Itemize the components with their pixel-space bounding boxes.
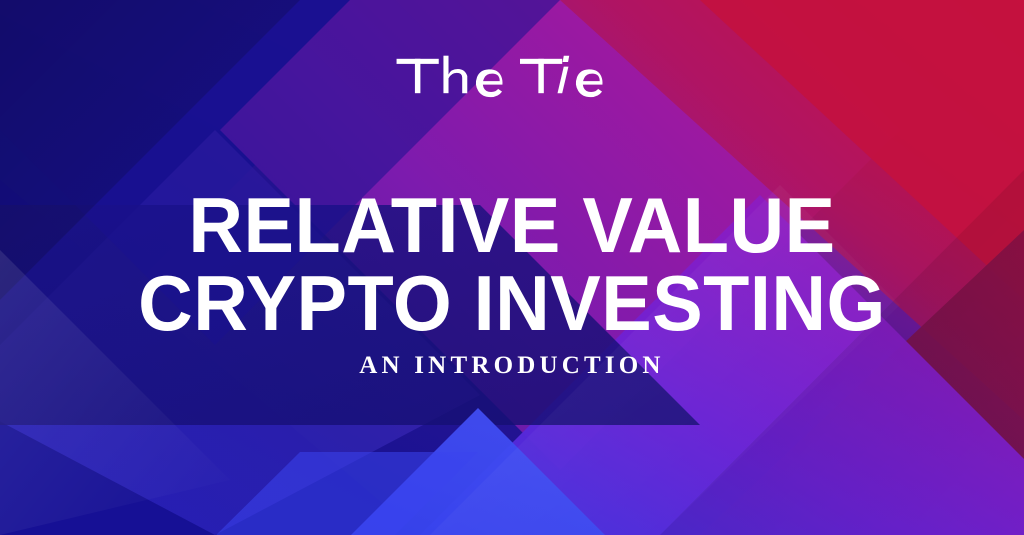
the-tie-wordmark-icon	[395, 51, 629, 101]
brand-logo[interactable]	[0, 48, 1024, 104]
headline-line-1: RELATIVE VALUE	[15, 186, 1008, 264]
subtitle: AN INTRODUCTION	[0, 351, 1024, 381]
headline-line-2: CRYPTO INVESTING	[15, 264, 1008, 342]
cover-content: RELATIVE VALUE CRYPTO INVESTING AN INTRO…	[0, 0, 1024, 535]
title-block: RELATIVE VALUE CRYPTO INVESTING	[0, 186, 1024, 342]
cover-slide: RELATIVE VALUE CRYPTO INVESTING AN INTRO…	[0, 0, 1024, 535]
